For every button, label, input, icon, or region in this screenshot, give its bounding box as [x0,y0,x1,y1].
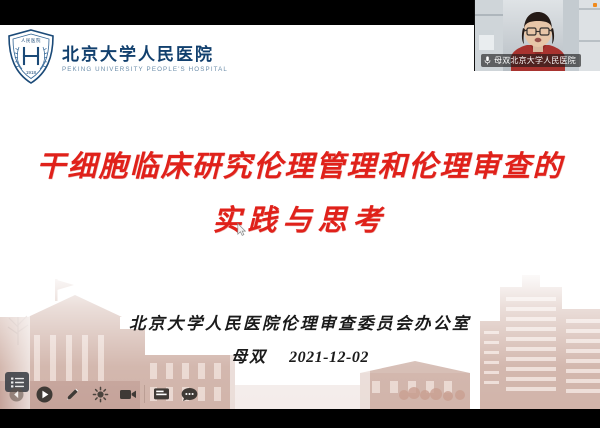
screen-root: 人民医院 1918 北京大学人民医院 [0,0,600,428]
byline-organization: 北京大学人民医院伦理审查委员会办公室 [0,310,600,334]
chat-bubble-icon [181,387,198,402]
slide-title-line-1: 干细胞临床研究伦理管理和伦理审查的 [0,153,600,182]
byline-author-line: 母双 2021-12-02 [0,343,600,367]
presenter-video-thumbnail[interactable]: 母双北京大学人民医院 [474,0,600,71]
toolbar-divider [144,385,145,403]
previous-slide-button[interactable] [2,381,30,407]
presentation-toolbar[interactable] [0,379,203,409]
slide-title-line-2: 实践与思考 [0,207,600,236]
participant-name-badge: 母双北京大学人民医院 [481,54,581,67]
hospital-logo-text: 北京大学人民医院 PEKING UNIVERSITY PEOPLE'S HOSP… [62,41,228,74]
chevron-left-icon [9,387,24,402]
play-circle-icon [36,386,53,403]
recording-indicator [593,3,597,7]
slide-title: 干细胞临床研究伦理管理和伦理审查的 实践与思考 [0,153,600,236]
byline-author-name: 母双 [231,349,267,366]
svg-text:1918: 1918 [26,70,37,75]
screen-share-icon [153,387,170,401]
video-camera-icon [119,387,137,401]
laser-pointer-icon [92,386,109,403]
screen-share-button[interactable] [147,381,175,407]
letterbox-bar-bottom [0,409,600,428]
laser-pointer-button[interactable] [86,381,114,407]
presentation-slide[interactable]: 人民医院 1918 北京大学人民医院 [0,25,600,409]
participant-name: 母双北京大学人民医院 [494,55,576,66]
shield-laurel-h-crest-icon: 人民医院 1918 [7,29,55,85]
hospital-logo: 人民医院 1918 北京大学人民医院 [7,29,228,85]
chat-button[interactable] [175,381,203,407]
byline-date: 2021-12-02 [289,349,369,366]
hospital-name-cn: 北京大学人民医院 [62,45,228,65]
hospital-name-en: PEKING UNIVERSITY PEOPLE'S HOSPITAL [62,66,228,73]
slide-byline: 北京大学人民医院伦理审查委员会办公室 母双 2021-12-02 [0,310,600,367]
microphone-icon [484,56,491,65]
camera-button[interactable] [114,381,142,407]
annotate-button[interactable] [58,381,86,407]
pencil-icon [64,386,81,403]
svg-text:人民医院: 人民医院 [21,37,41,44]
play-button[interactable] [30,381,58,407]
